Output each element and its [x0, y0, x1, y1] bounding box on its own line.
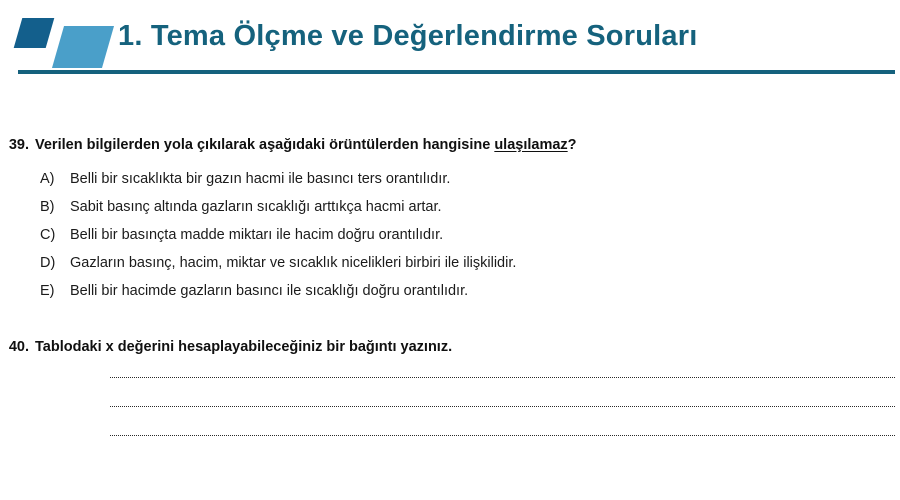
question-39-text-after: ? — [568, 137, 577, 153]
question-39-underlined-term: ulaşılamaz — [494, 137, 567, 153]
option-text-a: Belli bir sıcaklıkta bir gazın hacmi ile… — [70, 172, 900, 187]
header-divider — [18, 70, 895, 74]
option-letter-e: E) — [40, 284, 70, 299]
question-39-text: Verilen bilgilerden yola çıkılarak aşağı… — [35, 136, 900, 155]
option-text-c: Belli bir basınçta madde miktarı ile hac… — [70, 228, 900, 243]
option-row-d[interactable]: D) Gazların basınç, hacim, miktar ve sıc… — [40, 256, 900, 284]
question-40-heading: 40. Tablodaki x değerini hesaplayabilece… — [0, 338, 900, 357]
question-39-number: 39. — [0, 136, 35, 155]
option-text-d: Gazların basınç, hacim, miktar ve sıcakl… — [70, 256, 900, 271]
question-39-text-before: Verilen bilgilerden yola çıkılarak aşağı… — [35, 137, 494, 153]
logo-parallelogram-light-icon — [52, 26, 114, 68]
answer-line-2[interactable] — [110, 406, 895, 407]
option-row-b[interactable]: B) Sabit basınç altında gazların sıcaklı… — [40, 200, 900, 228]
question-block-40: 40. Tablodaki x değerini hesaplayabilece… — [0, 338, 900, 464]
page-header: 1. Tema Ölçme ve Değerlendirme Soruları — [0, 0, 900, 80]
question-39-options: A) Belli bir sıcaklıkta bir gazın hacmi … — [0, 172, 900, 312]
logo-parallelogram-dark-icon — [14, 18, 55, 48]
question-40-text: Tablodaki x değerini hesaplayabileceğini… — [35, 338, 900, 357]
option-text-b: Sabit basınç altında gazların sıcaklığı … — [70, 200, 900, 215]
page-title: 1. Tema Ölçme ve Değerlendirme Soruları — [118, 20, 697, 53]
option-row-a[interactable]: A) Belli bir sıcaklıkta bir gazın hacmi … — [40, 172, 900, 200]
option-letter-b: B) — [40, 200, 70, 215]
question-39-heading: 39. Verilen bilgilerden yola çıkılarak a… — [0, 136, 900, 155]
option-letter-c: C) — [40, 228, 70, 243]
question-40-number: 40. — [0, 338, 35, 357]
header-logo — [18, 18, 110, 68]
question-40-answer-lines — [0, 377, 900, 436]
answer-line-1[interactable] — [110, 377, 895, 378]
option-row-e[interactable]: E) Belli bir hacimde gazların basıncı il… — [40, 284, 900, 312]
answer-line-3[interactable] — [110, 435, 895, 436]
option-letter-d: D) — [40, 256, 70, 271]
option-text-e: Belli bir hacimde gazların basıncı ile s… — [70, 284, 900, 299]
option-row-c[interactable]: C) Belli bir basınçta madde miktarı ile … — [40, 228, 900, 256]
option-letter-a: A) — [40, 172, 70, 187]
question-block-39: 39. Verilen bilgilerden yola çıkılarak a… — [0, 136, 900, 312]
